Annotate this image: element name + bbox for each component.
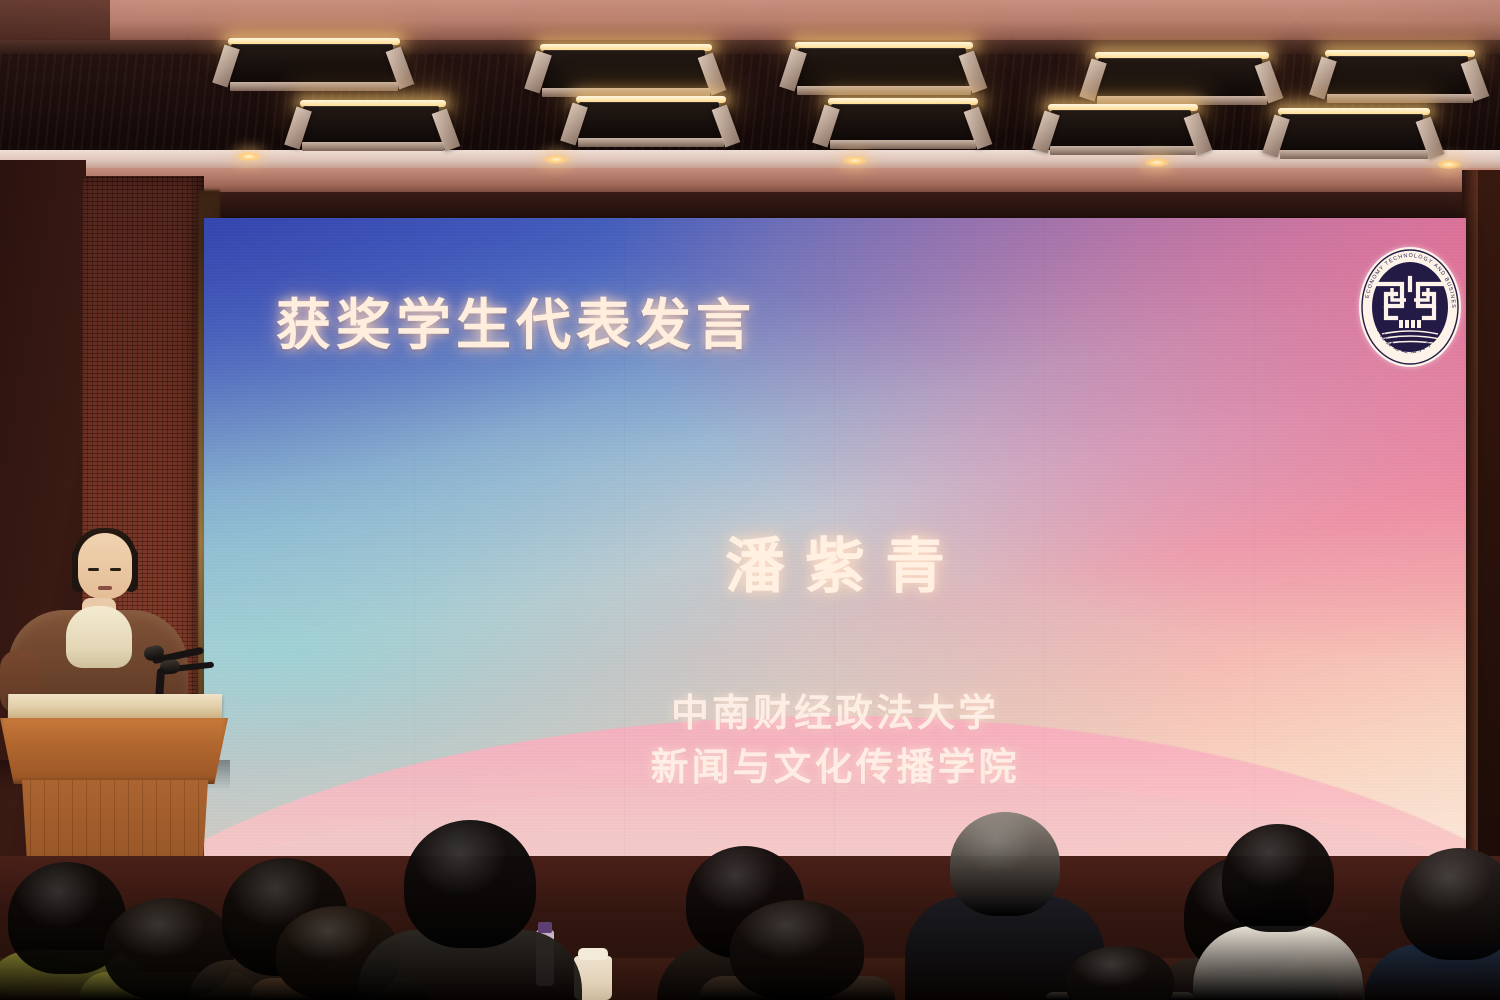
stage-light-body: [1098, 58, 1262, 98]
stage-light-body: [1051, 110, 1191, 148]
speaker-mouth: [98, 586, 112, 590]
stage-light-base: [1327, 94, 1473, 103]
stage-light-body: [1328, 56, 1468, 96]
ceiling-downlight: [1145, 158, 1169, 167]
stage-light-base: [797, 86, 971, 95]
wall-right-dark: [1478, 170, 1500, 910]
stage-light-body: [798, 48, 966, 88]
audience-head: [1222, 824, 1334, 932]
ceiling-downlight: [843, 156, 867, 165]
ceiling-downlight: [1437, 160, 1461, 169]
stage-light-base: [230, 82, 398, 91]
university-seal-logo: ECONOMY TECHNOLOGY AND BUSINESS UNIV 中南财…: [1356, 244, 1464, 370]
stage-light-base: [1050, 146, 1196, 155]
speaker-turtleneck: [66, 606, 132, 668]
stage-light-base: [830, 140, 976, 149]
stage-light-base: [578, 138, 724, 147]
audience-head: [730, 900, 864, 1000]
ceiling-downlight: [544, 155, 568, 164]
stage-light-body: [303, 106, 439, 144]
water-bottle-cap: [538, 922, 552, 933]
podium-top-surface: [8, 694, 222, 722]
stage-light-base: [302, 142, 444, 151]
audience-head: [404, 820, 536, 948]
organization-line-1: 中南财经政法大学: [204, 688, 1466, 742]
stage-light-body: [579, 102, 719, 140]
speaker-name-text: 潘紫青: [204, 518, 1466, 605]
stage-light-body: [543, 50, 705, 90]
audience-shoulders: [1193, 926, 1363, 1000]
organization-line-2: 新闻与文化传播学院: [204, 742, 1466, 796]
stage-light-body: [231, 44, 393, 84]
podium-front-panel: [0, 718, 228, 784]
audience-head: [950, 812, 1060, 916]
thermos-cup-lid: [578, 948, 608, 960]
stage-light-body: [1281, 114, 1423, 152]
audience-head: [1400, 848, 1500, 960]
auditorium-scene: 获奖学生代表发言 潘紫青 中南财经政法大学 新闻与文化传播学院: [0, 0, 1500, 1000]
speaker-eye-right: [110, 568, 121, 571]
organization-block: 中南财经政法大学 新闻与文化传播学院: [204, 688, 1466, 796]
stage-light-body: [831, 104, 971, 142]
stage-light-base: [1280, 150, 1428, 159]
projection-screen[interactable]: 获奖学生代表发言 潘紫青 中南财经政法大学 新闻与文化传播学院: [204, 218, 1466, 918]
slide-title: 获奖学生代表发言: [276, 280, 756, 360]
speaker-eye-left: [88, 568, 99, 571]
ceiling-downlight: [237, 152, 261, 161]
